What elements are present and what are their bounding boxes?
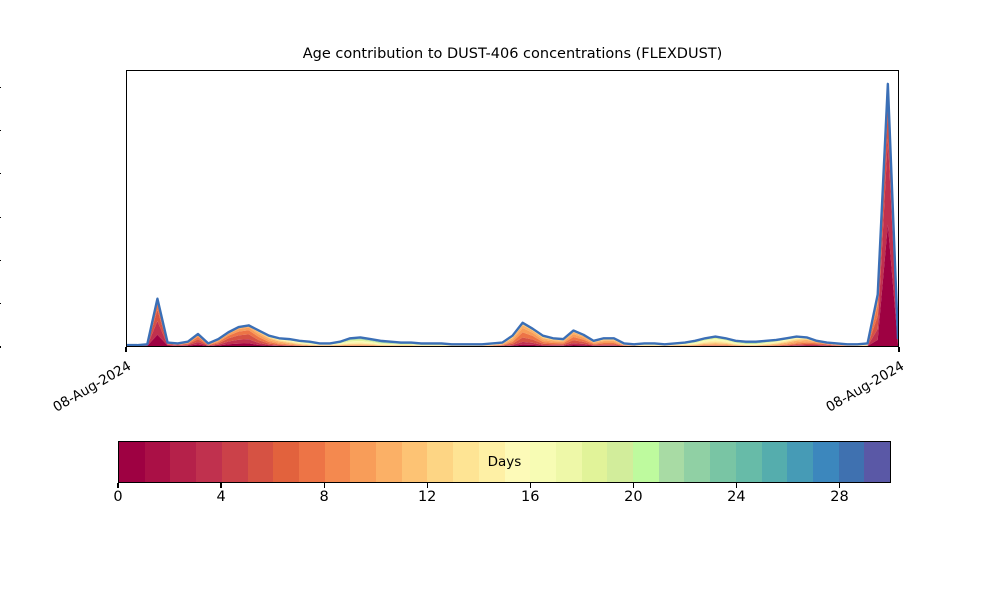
y-axis-tick-mark (0, 303, 1, 304)
colorbar-tick-label: 24 (727, 489, 745, 505)
colorbar-segment (196, 442, 222, 482)
stacked-area-plot (127, 71, 898, 346)
area-band (127, 138, 898, 346)
colorbar-segment (556, 442, 582, 482)
colorbar-segment (505, 442, 531, 482)
colorbar-segment (607, 442, 633, 482)
colorbar-tick-label: 8 (320, 489, 329, 505)
colorbar-segment (325, 442, 351, 482)
colorbar-tick-mark (427, 483, 428, 488)
colorbar-tick-label: 4 (216, 489, 225, 505)
x-axis-tick-label: 08-Aug-2024 (45, 358, 134, 418)
area-band (127, 87, 898, 345)
colorbar-segment (427, 442, 453, 482)
page-title: Age contribution to DUST-406 concentrati… (126, 46, 899, 62)
figure-canvas: Age contribution to DUST-406 concentrati… (0, 0, 1000, 600)
colorbar-segment (402, 442, 428, 482)
area-band (127, 84, 898, 345)
colorbar-segment (222, 442, 248, 482)
colorbar-segment (145, 442, 171, 482)
colorbar-tick-mark (633, 483, 634, 488)
colorbar-segment (273, 442, 299, 482)
x-axis-tick-mark (898, 347, 899, 352)
area-band (127, 97, 898, 346)
colorbar-segment (762, 442, 788, 482)
x-axis-tick-label: 08-Aug-2024 (818, 358, 907, 418)
area-band (127, 107, 898, 346)
y-axis-tick-mark (0, 130, 1, 131)
colorbar-tick-mark (117, 483, 118, 488)
colorbar-segment (248, 442, 274, 482)
colorbar-segment (633, 442, 659, 482)
colorbar-segment (839, 442, 865, 482)
colorbar-segment (453, 442, 479, 482)
colorbar-segment (710, 442, 736, 482)
area-band (127, 90, 898, 346)
colorbar-segment (864, 442, 890, 482)
x-axis-tick-mark (125, 347, 126, 352)
colorbar-segment (813, 442, 839, 482)
total-outline (127, 84, 898, 345)
colorbar-tick-mark (530, 483, 531, 488)
colorbar-tick-mark (736, 483, 737, 488)
colorbar[interactable] (118, 441, 891, 483)
colorbar-tick-label: 12 (418, 489, 436, 505)
area-band (127, 100, 898, 346)
y-axis-tick-mark (0, 173, 1, 174)
colorbar-tick-mark (324, 483, 325, 488)
colorbar-segment (376, 442, 402, 482)
colorbar-segment (170, 442, 196, 482)
colorbar-segment (659, 442, 685, 482)
colorbar-segment (736, 442, 762, 482)
colorbar-tick-mark (839, 483, 840, 488)
colorbar-segment (787, 442, 813, 482)
area-band (127, 94, 898, 346)
area-band (127, 98, 898, 346)
plot-area[interactable] (126, 70, 899, 347)
area-band (127, 88, 898, 345)
colorbar-segment (479, 442, 505, 482)
area-band (127, 93, 898, 346)
y-axis-tick-mark (0, 87, 1, 88)
colorbar-tick-label: 0 (113, 489, 122, 505)
colorbar-tick-label: 28 (830, 489, 848, 505)
colorbar-segment (582, 442, 608, 482)
colorbar-tick-mark (220, 483, 221, 488)
area-band (127, 95, 898, 345)
area-band (127, 85, 898, 345)
colorbar-segment (119, 442, 145, 482)
colorbar-segment (350, 442, 376, 482)
colorbar-segment (299, 442, 325, 482)
y-axis-tick-mark (0, 346, 1, 347)
colorbar-segment (530, 442, 556, 482)
area-band (127, 91, 898, 345)
colorbar-segment (684, 442, 710, 482)
colorbar-tick-label: 16 (521, 489, 539, 505)
y-axis-tick-mark (0, 260, 1, 261)
colorbar-tick-label: 20 (624, 489, 642, 505)
y-axis-tick-mark (0, 217, 1, 218)
